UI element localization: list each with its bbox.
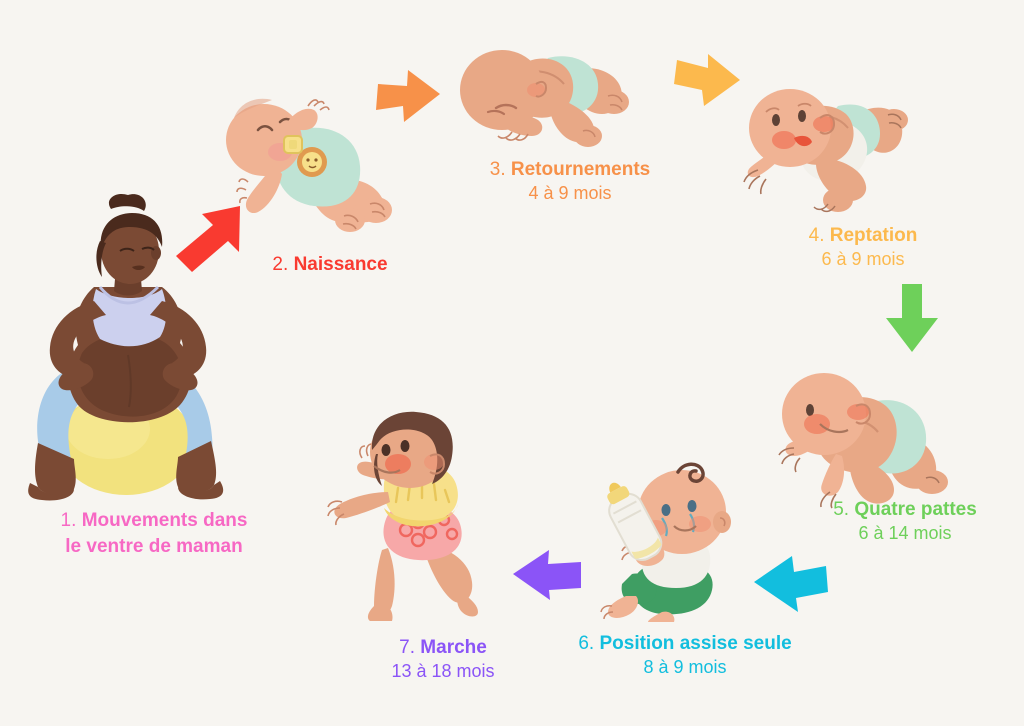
arrow-stage-2-to-3 <box>372 62 446 128</box>
stage-3-title: Retournements <box>511 159 650 180</box>
stage-5-title: Quatre pattes <box>854 499 976 520</box>
arrow-stage-3-to-4 <box>668 50 744 112</box>
stage-1-number: 1. <box>61 510 77 531</box>
infographic-canvas: 1. Mouvements dans le ventre de maman <box>0 0 1024 726</box>
stage-2-title: Naissance <box>294 254 388 275</box>
stage-2-number: 2. <box>272 254 288 275</box>
stage-7-title: Marche <box>420 637 487 658</box>
stage-6-title: Position assise seule <box>599 633 791 654</box>
stage-3-subtitle: 4 à 9 mois <box>430 182 710 205</box>
stage-7-number: 7. <box>399 637 415 658</box>
caption-stage-7: 7. Marche 13 à 18 mois <box>323 636 563 683</box>
stage-4-title: Reptation <box>830 225 918 246</box>
illustration-baby-crawling-on-all-fours <box>772 358 967 508</box>
arrow-stage-4-to-5 <box>882 282 942 354</box>
stage-3-number: 3. <box>490 159 506 180</box>
stage-1-title: Mouvements dans <box>82 510 248 531</box>
arrow-stage-5-to-6 <box>750 552 830 614</box>
stage-1-title-line2: le ventre de maman <box>65 536 242 557</box>
caption-stage-5: 5. Quatre pattes 6 à 14 mois <box>770 498 1024 545</box>
stage-6-number: 6. <box>578 633 594 654</box>
illustration-baby-sitting-with-bottle <box>596 462 756 622</box>
caption-stage-6: 6. Position assise seule 8 à 9 mois <box>535 632 835 679</box>
caption-stage-2: 2. Naissance <box>205 253 455 277</box>
arrow-stage-6-to-7 <box>509 546 585 602</box>
stage-4-subtitle: 6 à 9 mois <box>728 248 998 271</box>
stage-7-subtitle: 13 à 18 mois <box>323 660 563 683</box>
caption-stage-3: 3. Retournements 4 à 9 mois <box>430 158 710 205</box>
caption-stage-4: 4. Reptation 6 à 9 mois <box>728 224 998 271</box>
stage-5-subtitle: 6 à 14 mois <box>770 522 1024 545</box>
caption-stage-1: 1. Mouvements dans le ventre de maman <box>14 508 294 559</box>
stage-4-number: 4. <box>809 225 825 246</box>
illustration-baby-creeping-on-belly <box>742 72 927 222</box>
illustration-baby-rolling-over <box>452 28 642 158</box>
stage-5-number: 5. <box>833 499 849 520</box>
stage-6-subtitle: 8 à 9 mois <box>535 656 835 679</box>
illustration-toddler-walking <box>326 422 506 622</box>
